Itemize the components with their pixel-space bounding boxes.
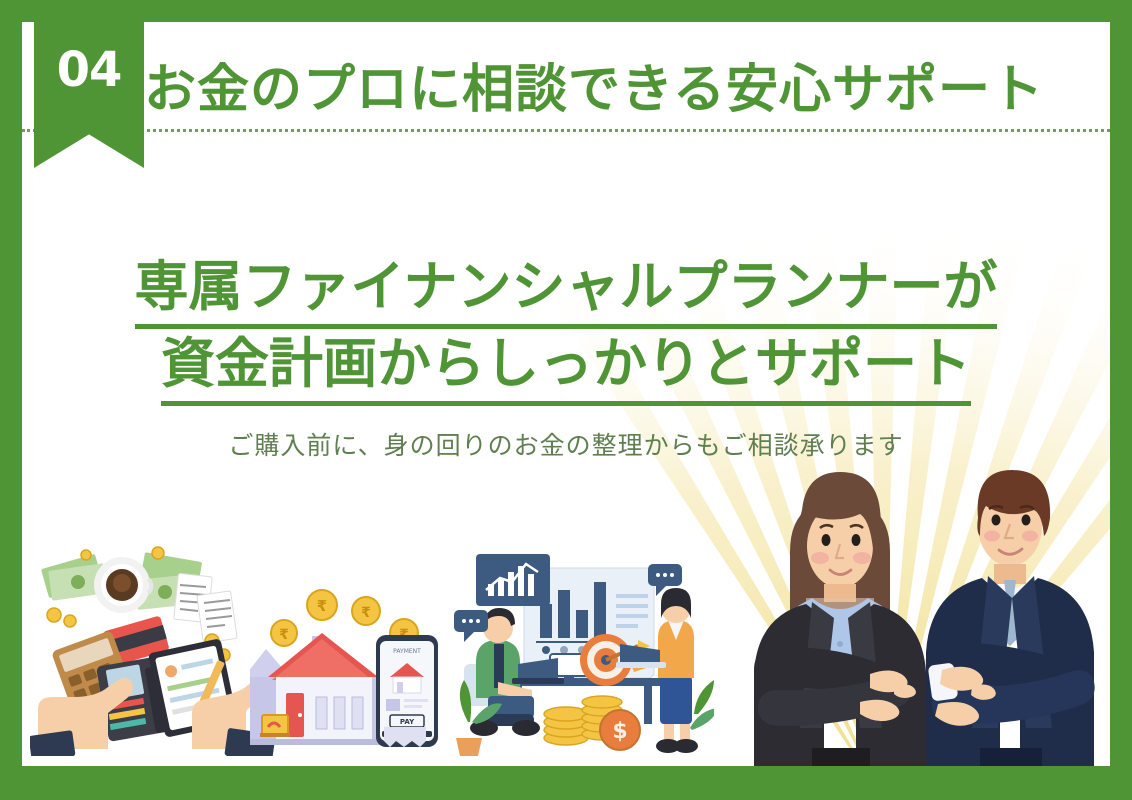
male-planner-icon bbox=[926, 470, 1095, 778]
phone-pay-button-label: PAY bbox=[400, 718, 415, 726]
headline-line-2: 資金計画からしっかりとサポート bbox=[22, 329, 1110, 406]
female-planner-icon bbox=[754, 472, 926, 778]
financial-desk-illustration bbox=[30, 541, 280, 756]
svg-text:₹: ₹ bbox=[279, 627, 289, 643]
header-dotted-divider bbox=[22, 129, 1110, 132]
two-financial-planners-illustration bbox=[694, 418, 1110, 778]
headline-block: 専属ファイナンシャルプランナーが 資金計画からしっかりとサポート ご購入前に、身… bbox=[22, 252, 1110, 462]
business-consulting-illustration: $ bbox=[454, 546, 714, 756]
headline-line-1: 専属ファイナンシャルプランナーが bbox=[22, 252, 1110, 329]
svg-text:₹: ₹ bbox=[317, 597, 327, 615]
section-number-label: 04 bbox=[34, 46, 144, 94]
slide-header: 04 お金のプロに相談できる安心サポート bbox=[22, 22, 1110, 142]
receipt-icon bbox=[384, 727, 426, 747]
headline-line-2-text: 資金計画からしっかりとサポート bbox=[161, 329, 971, 406]
phone-payment-label: PAYMENT bbox=[393, 648, 421, 655]
for-sale-sign-icon bbox=[260, 715, 290, 737]
svg-text:₹: ₹ bbox=[361, 605, 371, 621]
dollar-coin-label: $ bbox=[612, 719, 627, 744]
speech-bubble-icon bbox=[454, 610, 488, 642]
slide-root: 04 お金のプロに相談できる安心サポート 専属ファイナンシャルプランナーが 資金… bbox=[0, 0, 1132, 800]
slide-page: 04 お金のプロに相談できる安心サポート 専属ファイナンシャルプランナーが 資金… bbox=[22, 22, 1110, 778]
header-title: お金のプロに相談できる安心サポート bbox=[144, 44, 1094, 124]
bottom-green-strip bbox=[22, 766, 1110, 778]
subtitle-text: ご購入前に、身の回りのお金の整理からもご相談承ります bbox=[22, 426, 1110, 462]
house-mobile-payment-illustration: ₹ ₹ ₹ ₹ bbox=[250, 581, 465, 756]
coin-stack-icon: $ bbox=[544, 696, 640, 750]
section-number-ribbon: 04 bbox=[34, 22, 144, 168]
headline-line-1-text: 専属ファイナンシャルプランナーが bbox=[135, 252, 998, 329]
